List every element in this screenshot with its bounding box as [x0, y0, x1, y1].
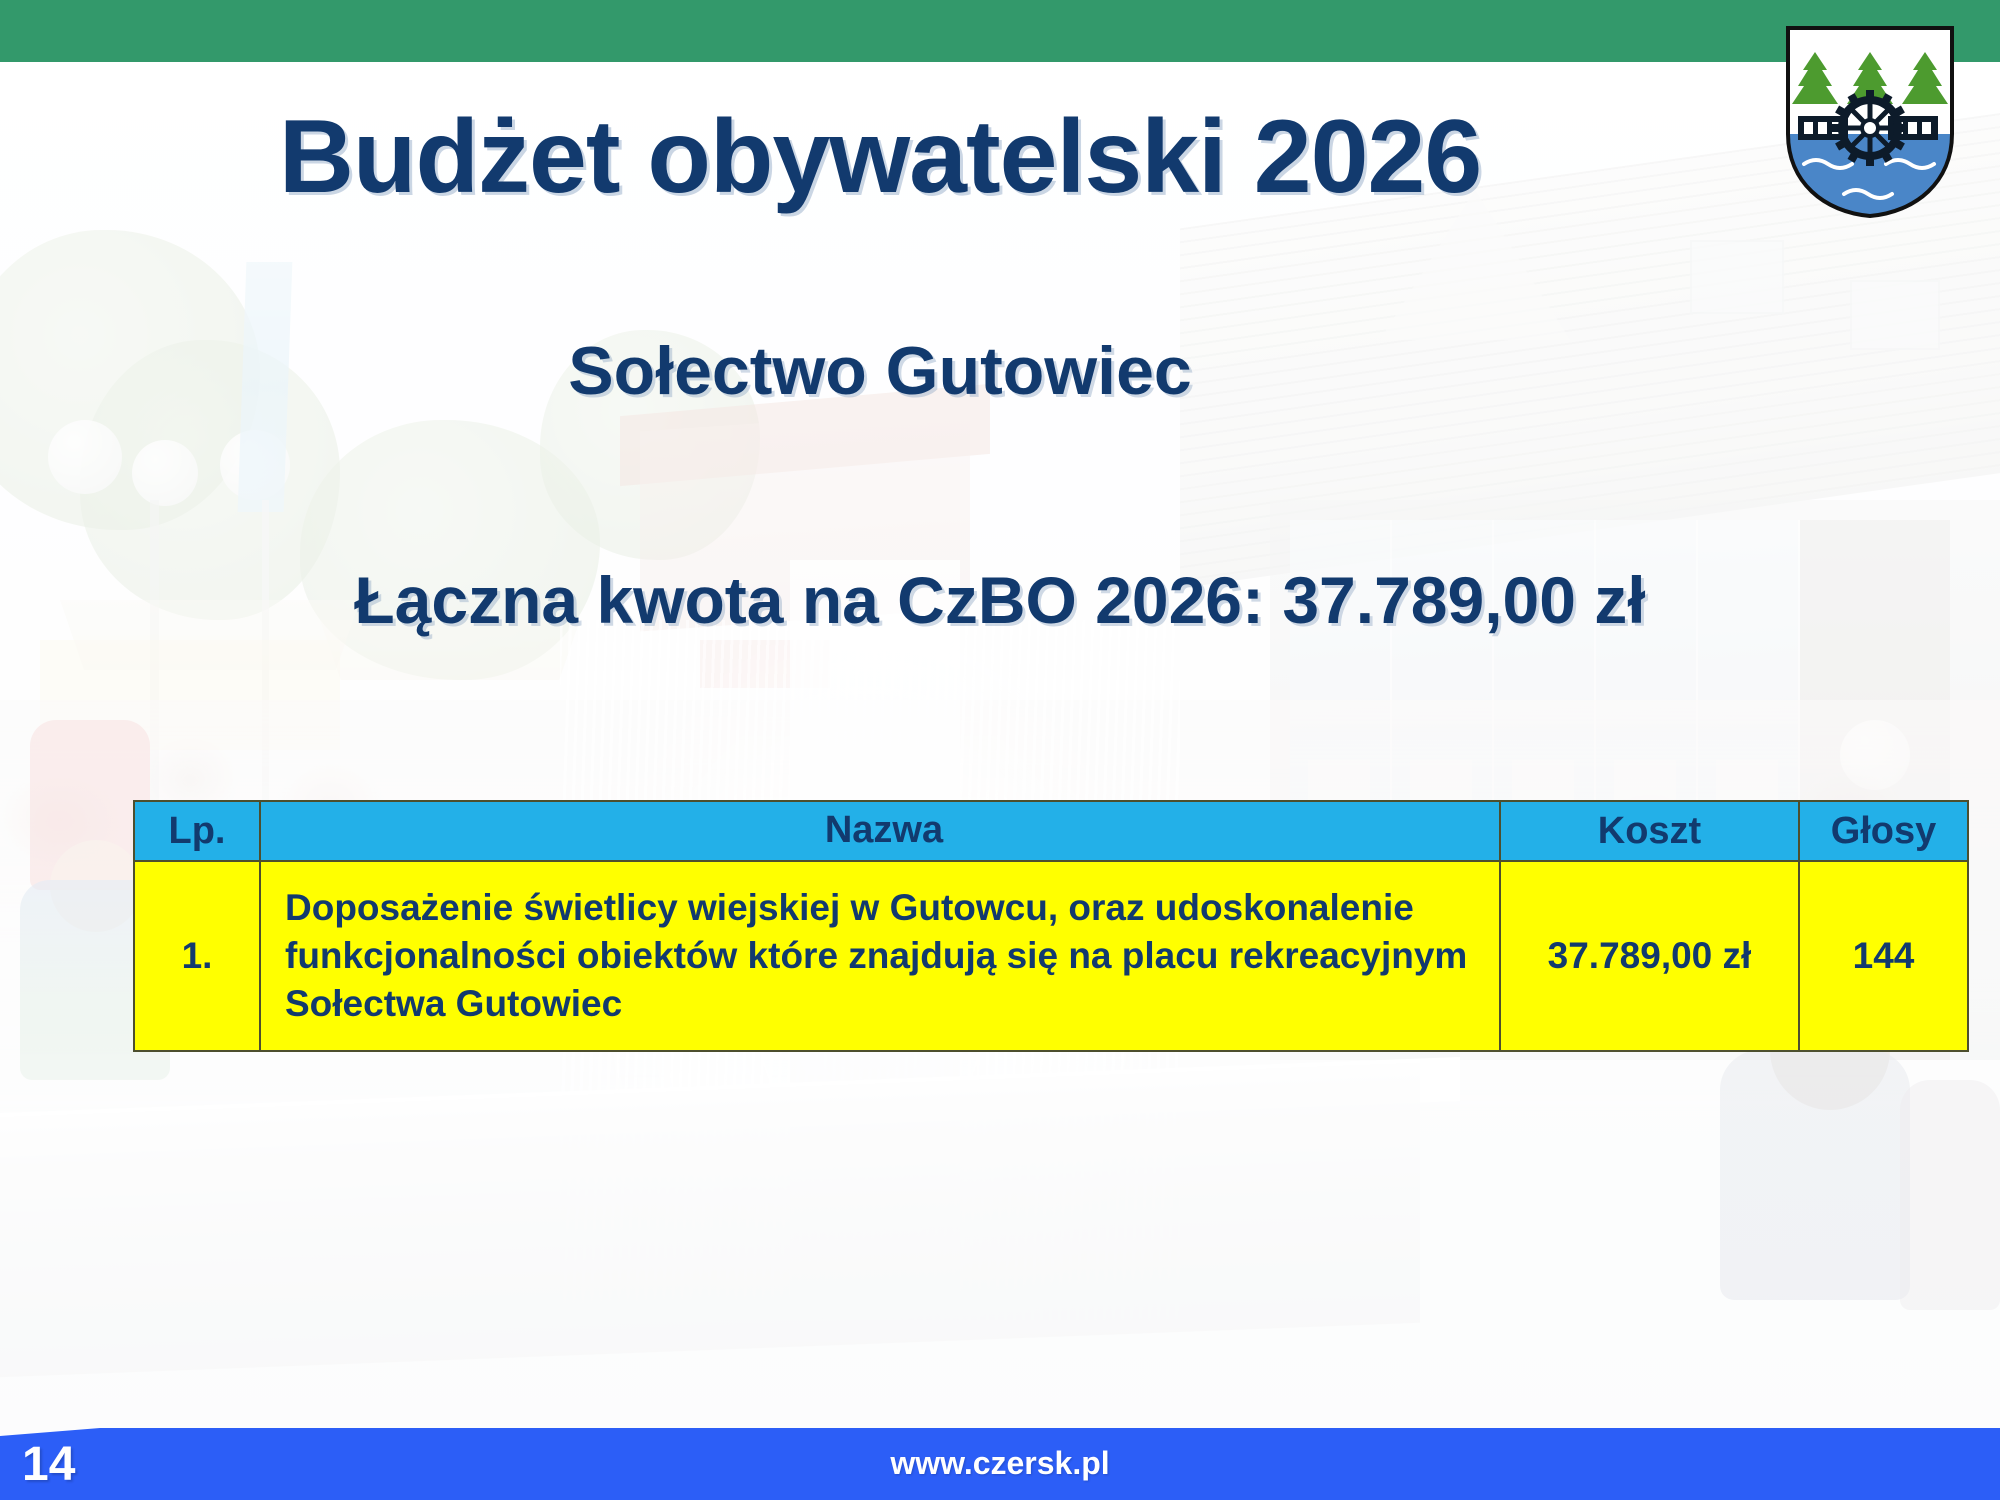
page-title: Budżet obywatelski 2026 — [0, 98, 1760, 217]
header-green-bar — [0, 0, 2000, 62]
subtitle-village: Sołectwo Gutowiec — [0, 332, 1760, 410]
total-amount-line: Łączna kwota na CzBO 2026: 37.789,00 zł — [0, 562, 2000, 638]
photo-fade-overlay — [0, 0, 2000, 1500]
column-header-glosy: Głosy — [1799, 801, 1968, 861]
coat-of-arms-icon — [1782, 22, 1958, 222]
column-header-lp: Lp. — [134, 801, 260, 861]
site-url: www.czersk.pl — [0, 1445, 2000, 1482]
column-header-nazwa: Nazwa — [260, 801, 1500, 861]
cell-lp: 1. — [134, 861, 260, 1051]
table-header-row: Lp. Nazwa Koszt Głosy — [134, 801, 1968, 861]
slide: Budżet obywatelski 2026 Sołectwo Gutowie… — [0, 0, 2000, 1500]
cell-nazwa: Doposażenie świetlicy wiejskiej w Gutowc… — [260, 861, 1500, 1051]
projects-table: Lp. Nazwa Koszt Głosy 1. Doposażenie świ… — [133, 800, 1969, 1052]
cell-glosy: 144 — [1799, 861, 1968, 1051]
cell-koszt: 37.789,00 zł — [1500, 861, 1799, 1051]
table-row: 1. Doposażenie świetlicy wiejskiej w Gut… — [134, 861, 1968, 1051]
column-header-koszt: Koszt — [1500, 801, 1799, 861]
